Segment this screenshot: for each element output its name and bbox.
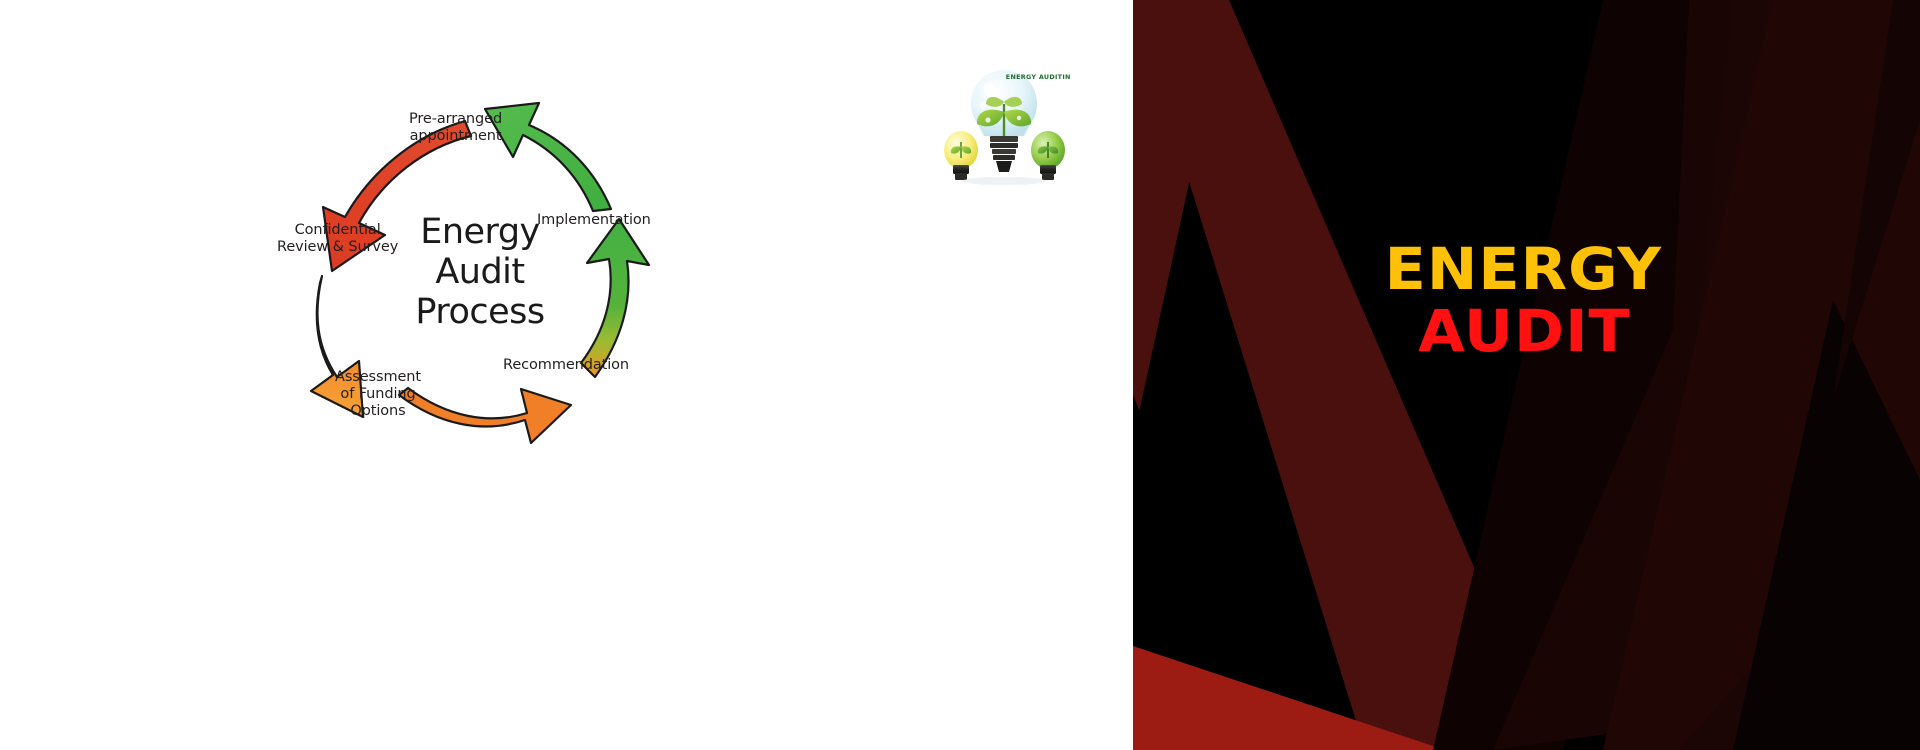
assessment-line-1: Assessment [335, 369, 421, 386]
small-green-bulb-icon [1031, 131, 1065, 180]
right-black-hero-panel: ENERGY AUDIT [1133, 0, 1920, 750]
arrow-to-recommendation [399, 388, 571, 443]
implementation-line-1: Implementation [537, 212, 651, 229]
energy-audit-process-cycle-diagram: Energy Audit Process Pre-arranged appoin… [275, 95, 705, 455]
arrow-to-implementation [581, 219, 649, 377]
step-label-recommendation: Recommendation [503, 357, 629, 374]
energy-auditing-logo: ENERGY AUDITING [940, 62, 1070, 187]
recommendation-line-1: Recommendation [503, 357, 629, 374]
small-yellow-bulb-icon [944, 131, 978, 180]
diagram-center-title: Energy Audit Process [385, 212, 575, 332]
step-label-assessment-of-funding-options: Assessment of Funding Options [335, 369, 421, 420]
logo-caption: ENERGY AUDITING [1006, 73, 1070, 81]
step-label-pre-arranged-appointment: Pre-arranged appointment [409, 111, 502, 145]
hero-title-line-audit: AUDIT [1133, 300, 1920, 362]
ct1: Energy [420, 212, 540, 252]
large-clear-bulb-icon [971, 70, 1037, 172]
slide-canvas: Energy Audit Process Pre-arranged appoin… [0, 0, 1920, 750]
pre-arranged-line-2: appointment [409, 128, 502, 145]
pre-arranged-line-1: Pre-arranged [409, 111, 502, 128]
hero-title-block: ENERGY AUDIT [1133, 238, 1920, 362]
ct3: Process [415, 292, 544, 332]
confidential-line-1: Confidential [277, 222, 398, 239]
step-label-implementation: Implementation [537, 212, 651, 229]
assessment-line-3: Options [335, 403, 421, 420]
hero-title-line-energy: ENERGY [1133, 238, 1920, 300]
step-label-confidential-review-and-survey: Confidential Review & Survey [277, 222, 398, 256]
left-white-panel: Energy Audit Process Pre-arranged appoin… [0, 0, 1133, 750]
hero-background-rays [1133, 0, 1920, 750]
arrow-to-prearranged-appointment [485, 103, 611, 211]
confidential-line-2: Review & Survey [277, 239, 398, 256]
ct2: Audit [435, 252, 524, 292]
center-title-line-3: Process [385, 292, 575, 332]
center-title-line-2: Audit [385, 252, 575, 292]
assessment-line-2: of Funding [335, 386, 421, 403]
logo-shadow [962, 177, 1046, 185]
